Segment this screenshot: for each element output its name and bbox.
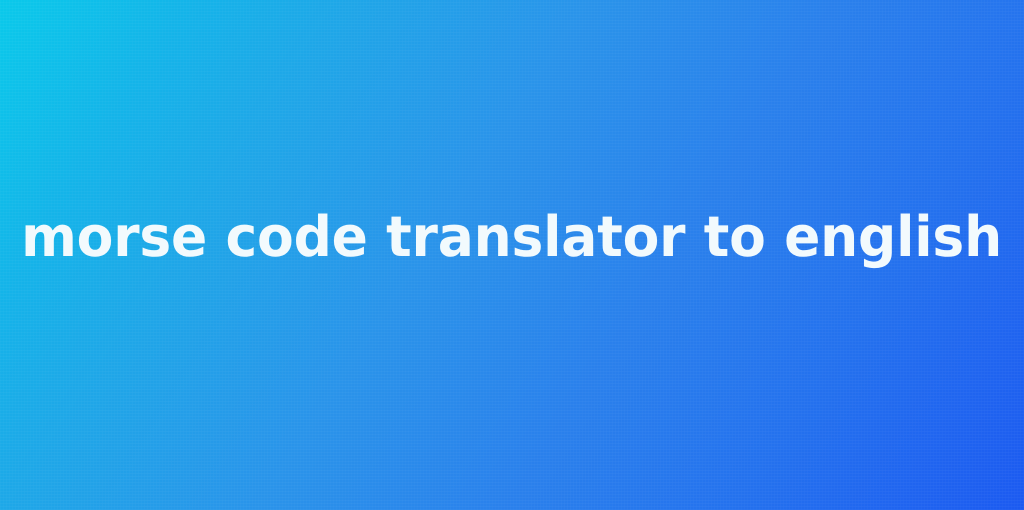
headline-container: morse code translator to english [0,0,1024,510]
hero-banner: morse code translator to english [0,0,1024,510]
banner-headline: morse code translator to english [22,210,1003,266]
